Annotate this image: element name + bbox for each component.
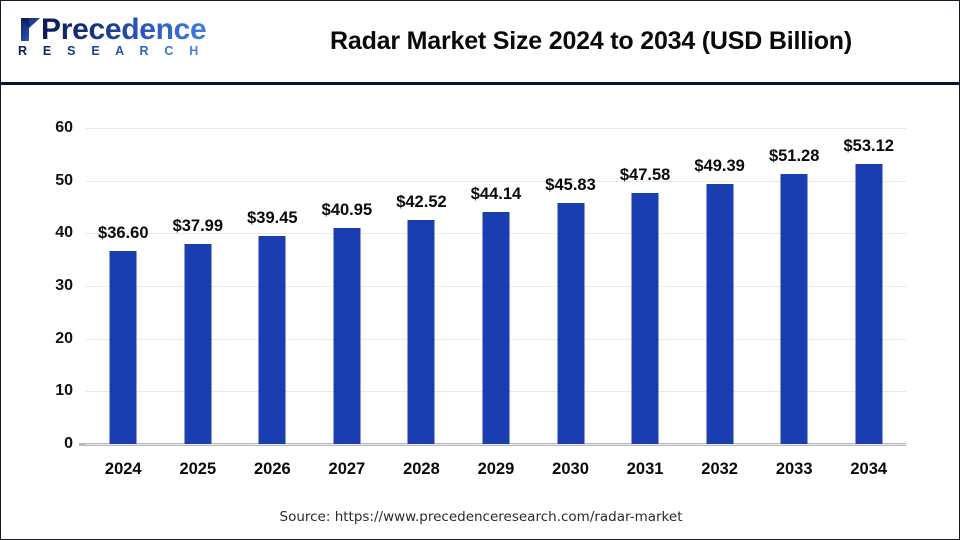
x-axis-tick-label: 2030 — [552, 460, 589, 479]
y-axis-tick-label: 30 — [55, 277, 73, 295]
bar-group[interactable]: $47.582031 — [608, 128, 683, 444]
bar[interactable] — [482, 212, 509, 444]
bar[interactable] — [557, 203, 584, 444]
x-axis-tick-label: 2032 — [701, 460, 738, 479]
bar[interactable] — [259, 236, 286, 444]
x-axis-tick-label: 2025 — [179, 460, 216, 479]
bar-value-label: $39.45 — [247, 209, 297, 228]
bar-value-label: $36.60 — [98, 224, 148, 243]
bar-group[interactable]: $49.392032 — [682, 128, 757, 444]
gridline — [86, 444, 906, 445]
chart-header: Precedence R E S E A R C H Radar Market … — [1, 1, 959, 85]
x-axis-tick-label: 2024 — [105, 460, 142, 479]
chart-plot-wrapper: 0102030405060$36.602024$37.992025$39.452… — [1, 85, 960, 540]
y-axis-tick-label: 60 — [55, 119, 73, 137]
bar-value-label: $53.12 — [843, 137, 893, 156]
x-axis-tick-label: 2028 — [403, 460, 440, 479]
bar[interactable] — [632, 193, 659, 444]
bar-group[interactable]: $37.992025 — [161, 128, 236, 444]
x-axis-tick-label: 2033 — [776, 460, 813, 479]
y-axis-tick-label: 0 — [64, 435, 73, 453]
precedence-research-logo: Precedence R E S E A R C H — [15, 13, 225, 71]
bar-group[interactable]: $45.832030 — [533, 128, 608, 444]
y-axis-tick-label: 40 — [55, 224, 73, 242]
bar-group[interactable]: $44.142029 — [459, 128, 534, 444]
bar[interactable] — [333, 228, 360, 444]
bar-group[interactable]: $51.282033 — [757, 128, 832, 444]
y-axis-tick-label: 20 — [55, 330, 73, 348]
y-axis-tick-label: 10 — [55, 382, 73, 400]
logo-subtitle: R E S E A R C H — [18, 43, 205, 59]
x-axis-tick-label: 2031 — [627, 460, 664, 479]
bar[interactable] — [408, 220, 435, 444]
bar-value-label: $47.58 — [620, 166, 670, 185]
x-axis-tick-label: 2026 — [254, 460, 291, 479]
logo-wordmark: Precedence — [41, 13, 206, 47]
bar[interactable] — [706, 184, 733, 444]
bar-value-label: $37.99 — [173, 217, 223, 236]
bar-value-label: $40.95 — [322, 201, 372, 220]
chart-plot-area: 0102030405060$36.602024$37.992025$39.452… — [86, 128, 906, 444]
bar-value-label: $45.83 — [545, 176, 595, 195]
bar-value-label: $49.39 — [694, 157, 744, 176]
bar[interactable] — [184, 244, 211, 444]
chart-card: Precedence R E S E A R C H Radar Market … — [0, 0, 960, 540]
chart-title: Radar Market Size 2024 to 2034 (USD Bill… — [231, 1, 951, 82]
bar-group[interactable]: $39.452026 — [235, 128, 310, 444]
bar-value-label: $44.14 — [471, 185, 521, 204]
bar-value-label: $42.52 — [396, 193, 446, 212]
bar[interactable] — [781, 174, 808, 444]
bar-value-label: $51.28 — [769, 147, 819, 166]
x-axis-tick-label: 2027 — [329, 460, 366, 479]
x-axis-tick-label: 2034 — [850, 460, 887, 479]
bar[interactable] — [855, 164, 882, 444]
bar[interactable] — [110, 251, 137, 444]
source-caption: Source: https://www.precedenceresearch.c… — [1, 509, 960, 525]
bar-group[interactable]: $40.952027 — [310, 128, 385, 444]
bar-group[interactable]: $36.602024 — [86, 128, 161, 444]
bar-group[interactable]: $42.522028 — [384, 128, 459, 444]
bar-group[interactable]: $53.122034 — [831, 128, 906, 444]
x-axis-tick-label: 2029 — [478, 460, 515, 479]
y-axis-tick-label: 50 — [55, 172, 73, 190]
